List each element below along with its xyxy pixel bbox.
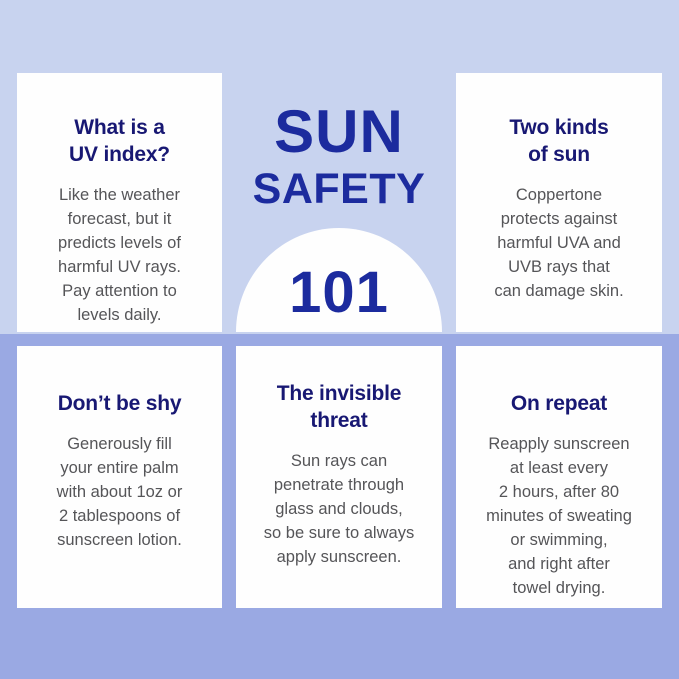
hero-dome-shape: 101: [236, 228, 442, 332]
hero-sun-safety-101: SUN SAFETY 101: [236, 73, 442, 332]
hero-badge-101: 101: [236, 262, 442, 324]
info-card-body: Coppertone protects against harmful UVA …: [484, 183, 633, 303]
hero-title-sun: SUN: [236, 103, 442, 161]
info-card-on-repeat: On repeat Reapply sunscreen at least eve…: [456, 346, 662, 608]
info-card-dont-be-shy: Don’t be shy Generously fill your entire…: [17, 346, 222, 608]
hero-title-safety: SAFETY: [236, 165, 442, 213]
info-card-body: Like the weather forecast, but it predic…: [48, 183, 191, 327]
info-card-title: Two kinds of sun: [503, 114, 614, 168]
info-card-title: The invisible threat: [271, 380, 408, 434]
info-card-uv-index: What is a UV index? Like the weather for…: [17, 73, 222, 332]
info-card-invisible-threat: The invisible threat Sun rays can penetr…: [236, 346, 442, 608]
info-card-body: Generously fill your entire palm with ab…: [47, 432, 193, 552]
info-card-body: Reapply sunscreen at least every 2 hours…: [476, 432, 642, 600]
info-card-body: Sun rays can penetrate through glass and…: [254, 449, 424, 569]
sun-safety-infographic: What is a UV index? Like the weather for…: [0, 0, 679, 679]
info-card-title: What is a UV index?: [63, 114, 176, 168]
info-card-title: Don’t be shy: [52, 390, 188, 417]
info-card-two-kinds-of-sun: Two kinds of sun Coppertone protects aga…: [456, 73, 662, 332]
info-card-title: On repeat: [505, 390, 613, 417]
